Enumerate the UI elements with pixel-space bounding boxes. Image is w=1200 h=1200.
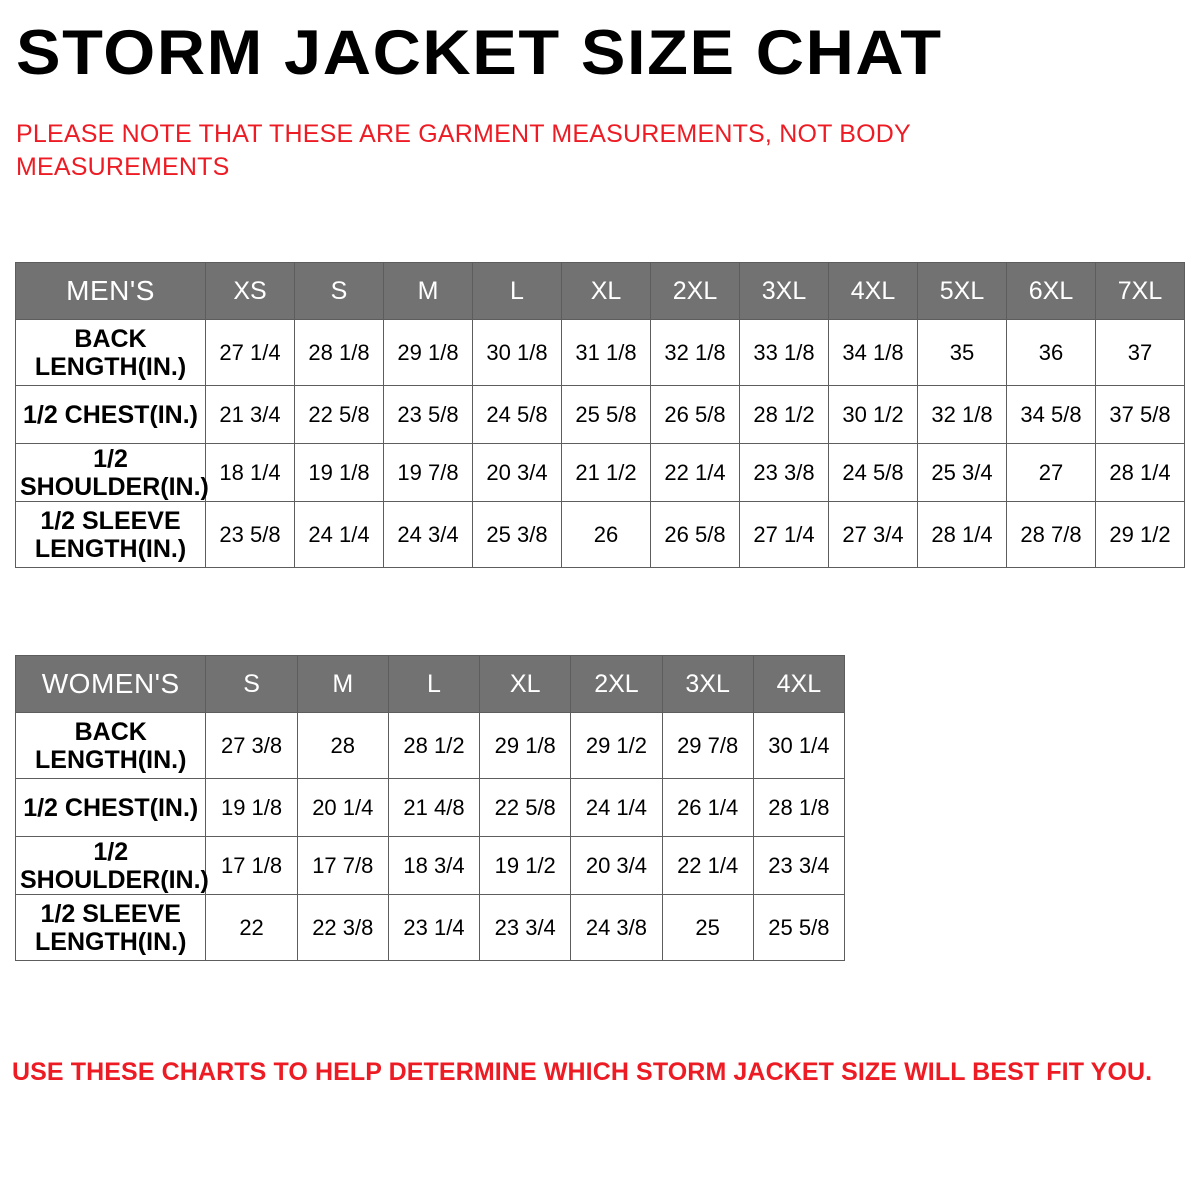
measurement-cell: 24 1/4 <box>295 502 384 568</box>
womens-size-header-4xl: 4XL <box>753 656 844 713</box>
measurement-label-line2: LENGTH(IN.) <box>20 746 201 774</box>
table-row: BACKLENGTH(IN.)27 1/428 1/829 1/830 1/83… <box>16 320 1185 386</box>
measurement-label-line1: BACK <box>20 325 201 353</box>
measurement-cell: 20 1/4 <box>297 779 388 837</box>
measurement-cell: 32 1/8 <box>651 320 740 386</box>
measurement-cell: 28 1/4 <box>918 502 1007 568</box>
measurement-cell: 24 3/4 <box>384 502 473 568</box>
womens-table-body: BACKLENGTH(IN.)27 3/82828 1/229 1/829 1/… <box>16 713 845 961</box>
mens-measurement-label: 1/2 CHEST(IN.) <box>16 386 206 444</box>
measurement-cell: 22 1/4 <box>651 444 740 502</box>
measurement-cell: 28 1/8 <box>753 779 844 837</box>
measurement-cell: 18 3/4 <box>388 837 479 895</box>
table-row: 1/2 SHOULDER(IN.)18 1/419 1/819 7/820 3/… <box>16 444 1185 502</box>
measurement-cell: 25 5/8 <box>753 895 844 961</box>
measurement-cell: 21 3/4 <box>206 386 295 444</box>
measurement-cell: 33 1/8 <box>740 320 829 386</box>
mens-size-header-6xl: 6XL <box>1007 263 1096 320</box>
measurement-cell: 26 5/8 <box>651 386 740 444</box>
measurement-cell: 24 5/8 <box>829 444 918 502</box>
womens-size-header-2xl: 2XL <box>571 656 662 713</box>
mens-size-header-4xl: 4XL <box>829 263 918 320</box>
table-row: 1/2 SLEEVELENGTH(IN.)2222 3/823 1/423 3/… <box>16 895 845 961</box>
measurement-cell: 28 1/2 <box>740 386 829 444</box>
womens-header-row: WOMEN'S SMLXL2XL3XL4XL <box>16 656 845 713</box>
measurement-cell: 25 <box>662 895 753 961</box>
measurement-cell: 22 1/4 <box>662 837 753 895</box>
measurement-cell: 21 4/8 <box>388 779 479 837</box>
measurement-cell: 29 1/8 <box>384 320 473 386</box>
womens-measurement-label: 1/2 CHEST(IN.) <box>16 779 206 837</box>
table-row: 1/2 SHOULDER(IN.)17 1/817 7/818 3/419 1/… <box>16 837 845 895</box>
mens-header-row: MEN'S XSSMLXL2XL3XL4XL5XL6XL7XL <box>16 263 1185 320</box>
womens-measurement-label: BACKLENGTH(IN.) <box>16 713 206 779</box>
measurement-cell: 25 3/4 <box>918 444 1007 502</box>
mens-size-header-3xl: 3XL <box>740 263 829 320</box>
measurement-cell: 28 1/4 <box>1096 444 1185 502</box>
measurement-cell: 30 1/4 <box>753 713 844 779</box>
measurement-cell: 24 1/4 <box>571 779 662 837</box>
measurement-cell: 19 1/2 <box>480 837 571 895</box>
measurement-cell: 30 1/8 <box>473 320 562 386</box>
mens-size-header-xs: XS <box>206 263 295 320</box>
measurement-cell: 25 5/8 <box>562 386 651 444</box>
measurement-cell: 24 3/8 <box>571 895 662 961</box>
measurement-cell: 21 1/2 <box>562 444 651 502</box>
measurement-label-line2: LENGTH(IN.) <box>20 535 201 563</box>
mens-table-body: BACKLENGTH(IN.)27 1/428 1/829 1/830 1/83… <box>16 320 1185 568</box>
measurement-cell: 29 1/2 <box>571 713 662 779</box>
table-row: 1/2 CHEST(IN.)21 3/422 5/823 5/824 5/825… <box>16 386 1185 444</box>
measurement-cell: 19 1/8 <box>295 444 384 502</box>
womens-size-header-m: M <box>297 656 388 713</box>
measurement-cell: 22 3/8 <box>297 895 388 961</box>
measurement-label-line1: 1/2 SLEEVE <box>20 900 201 928</box>
measurement-cell: 23 5/8 <box>206 502 295 568</box>
measurement-cell: 36 <box>1007 320 1096 386</box>
measurement-cell: 24 5/8 <box>473 386 562 444</box>
womens-size-table: WOMEN'S SMLXL2XL3XL4XL BACKLENGTH(IN.)27… <box>15 655 845 961</box>
measurement-cell: 28 1/8 <box>295 320 384 386</box>
page-title: STORM JACKET SIZE CHAT <box>16 22 943 85</box>
womens-size-header-3xl: 3XL <box>662 656 753 713</box>
mens-size-header-5xl: 5XL <box>918 263 1007 320</box>
measurement-cell: 23 1/4 <box>388 895 479 961</box>
mens-corner-header: MEN'S <box>16 263 206 320</box>
womens-size-header-l: L <box>388 656 479 713</box>
measurement-cell: 23 3/4 <box>753 837 844 895</box>
womens-measurement-label: 1/2 SLEEVELENGTH(IN.) <box>16 895 206 961</box>
mens-size-table: MEN'S XSSMLXL2XL3XL4XL5XL6XL7XL BACKLENG… <box>15 262 1185 568</box>
mens-measurement-label: 1/2 SHOULDER(IN.) <box>16 444 206 502</box>
measurement-cell: 37 5/8 <box>1096 386 1185 444</box>
mens-size-header-2xl: 2XL <box>651 263 740 320</box>
mens-measurement-label: 1/2 SLEEVELENGTH(IN.) <box>16 502 206 568</box>
measurement-cell: 28 <box>297 713 388 779</box>
mens-size-header-xl: XL <box>562 263 651 320</box>
measurement-cell: 35 <box>918 320 1007 386</box>
measurement-cell: 17 1/8 <box>206 837 297 895</box>
mens-table-header: MEN'S XSSMLXL2XL3XL4XL5XL6XL7XL <box>16 263 1185 320</box>
measurement-cell: 34 1/8 <box>829 320 918 386</box>
measurement-label-line2: LENGTH(IN.) <box>20 928 201 956</box>
garment-measurement-note: PLEASE NOTE THAT THESE ARE GARMENT MEASU… <box>16 118 976 184</box>
measurement-cell: 22 <box>206 895 297 961</box>
womens-size-header-s: S <box>206 656 297 713</box>
measurement-cell: 32 1/8 <box>918 386 1007 444</box>
table-row: 1/2 CHEST(IN.)19 1/820 1/421 4/822 5/824… <box>16 779 845 837</box>
measurement-cell: 19 1/8 <box>206 779 297 837</box>
size-chart-page: STORM JACKET SIZE CHAT PLEASE NOTE THAT … <box>0 0 1200 1200</box>
table-row: BACKLENGTH(IN.)27 3/82828 1/229 1/829 1/… <box>16 713 845 779</box>
table-row: 1/2 SLEEVELENGTH(IN.)23 5/824 1/424 3/42… <box>16 502 1185 568</box>
measurement-cell: 29 1/2 <box>1096 502 1185 568</box>
measurement-cell: 25 3/8 <box>473 502 562 568</box>
measurement-cell: 31 1/8 <box>562 320 651 386</box>
measurement-cell: 18 1/4 <box>206 444 295 502</box>
measurement-cell: 20 3/4 <box>571 837 662 895</box>
measurement-cell: 27 <box>1007 444 1096 502</box>
measurement-cell: 26 1/4 <box>662 779 753 837</box>
measurement-cell: 29 7/8 <box>662 713 753 779</box>
measurement-cell: 27 3/4 <box>829 502 918 568</box>
measurement-cell: 22 5/8 <box>480 779 571 837</box>
measurement-cell: 20 3/4 <box>473 444 562 502</box>
mens-size-header-s: S <box>295 263 384 320</box>
measurement-cell: 19 7/8 <box>384 444 473 502</box>
womens-size-header-xl: XL <box>480 656 571 713</box>
measurement-cell: 26 <box>562 502 651 568</box>
measurement-cell: 27 3/8 <box>206 713 297 779</box>
mens-size-header-7xl: 7XL <box>1096 263 1185 320</box>
mens-size-header-m: M <box>384 263 473 320</box>
measurement-label-line1: 1/2 SLEEVE <box>20 507 201 535</box>
measurement-cell: 26 5/8 <box>651 502 740 568</box>
womens-table-header: WOMEN'S SMLXL2XL3XL4XL <box>16 656 845 713</box>
womens-corner-header: WOMEN'S <box>16 656 206 713</box>
measurement-cell: 27 1/4 <box>206 320 295 386</box>
womens-measurement-label: 1/2 SHOULDER(IN.) <box>16 837 206 895</box>
measurement-cell: 22 5/8 <box>295 386 384 444</box>
measurement-cell: 30 1/2 <box>829 386 918 444</box>
mens-measurement-label: BACKLENGTH(IN.) <box>16 320 206 386</box>
footer-note: USE THESE CHARTS TO HELP DETERMINE WHICH… <box>12 1058 1172 1087</box>
measurement-label-line2: LENGTH(IN.) <box>20 353 201 381</box>
measurement-cell: 17 7/8 <box>297 837 388 895</box>
measurement-cell: 23 3/8 <box>740 444 829 502</box>
measurement-cell: 23 5/8 <box>384 386 473 444</box>
measurement-cell: 37 <box>1096 320 1185 386</box>
measurement-cell: 29 1/8 <box>480 713 571 779</box>
measurement-cell: 28 7/8 <box>1007 502 1096 568</box>
measurement-cell: 23 3/4 <box>480 895 571 961</box>
mens-size-header-l: L <box>473 263 562 320</box>
measurement-label-line1: BACK <box>20 718 201 746</box>
measurement-cell: 34 5/8 <box>1007 386 1096 444</box>
measurement-cell: 27 1/4 <box>740 502 829 568</box>
measurement-cell: 28 1/2 <box>388 713 479 779</box>
